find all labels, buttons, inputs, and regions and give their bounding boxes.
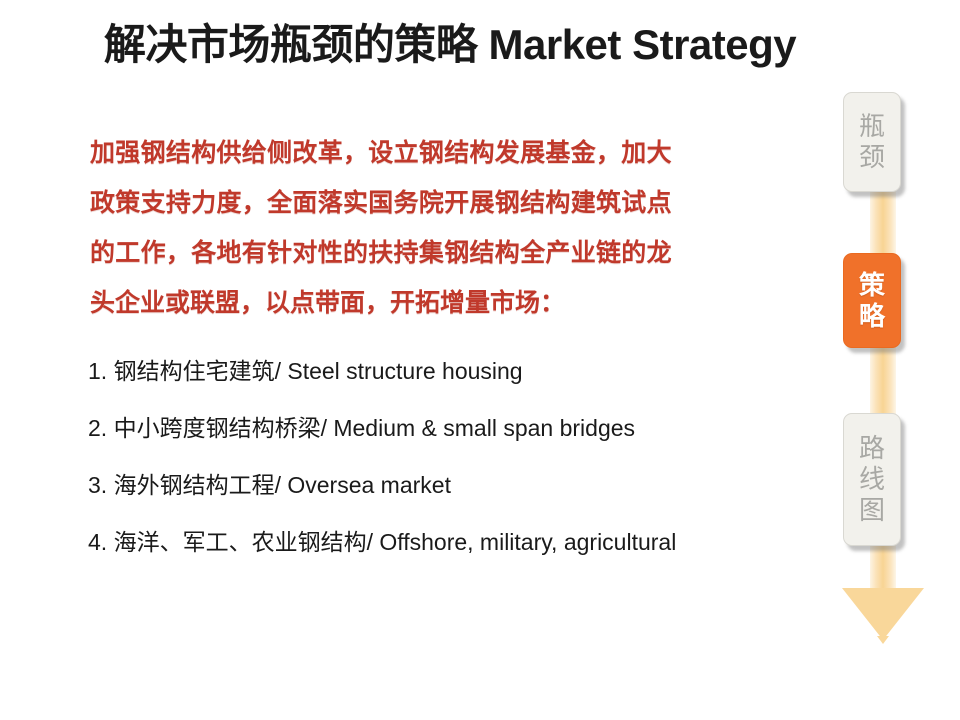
page-title: 解决市场瓶颈的策略 Market Strategy: [0, 22, 900, 68]
sidebar-item-roadmap[interactable]: 路 线 图: [843, 413, 901, 546]
list-item: 2. 中小跨度钢结构桥梁/ Medium & small span bridge…: [88, 417, 848, 440]
market-segment-list: 1. 钢结构住宅建筑/ Steel structure housing 2. 中…: [88, 360, 848, 554]
emphasis-line-1: 加强钢结构供给侧改革，设立钢结构发展基金，加大: [90, 128, 802, 178]
nav-char: 颈: [859, 142, 885, 173]
nav-char: 路: [859, 433, 885, 464]
emphasis-line-4: 头企业或联盟，以点带面，开拓增量市场：: [90, 278, 802, 328]
down-arrow-icon: [842, 588, 924, 640]
emphasis-paragraph: 加强钢结构供给侧改革，设立钢结构发展基金，加大 政策支持力度，全面落实国务院开展…: [90, 128, 802, 328]
process-nav-rail: 瓶 颈 策 略 路 线 图: [824, 80, 960, 650]
list-item: 4. 海洋、军工、农业钢结构/ Offshore, military, agri…: [88, 531, 848, 554]
list-item: 3. 海外钢结构工程/ Oversea market: [88, 474, 848, 497]
down-arrow-tip-icon: [877, 636, 889, 644]
sidebar-item-bottleneck[interactable]: 瓶 颈: [843, 92, 901, 192]
emphasis-line-3: 的工作，各地有针对性的扶持集钢结构全产业链的龙: [90, 228, 802, 278]
sidebar-item-strategy[interactable]: 策 略: [843, 253, 901, 348]
emphasis-line-2: 政策支持力度，全面落实国务院开展钢结构建筑试点: [90, 178, 802, 228]
nav-char: 瓶: [859, 111, 885, 142]
nav-char: 线: [859, 464, 885, 495]
nav-char: 略: [859, 301, 885, 332]
list-item: 1. 钢结构住宅建筑/ Steel structure housing: [88, 360, 848, 383]
nav-char: 策: [859, 270, 885, 301]
nav-char: 图: [859, 495, 885, 526]
